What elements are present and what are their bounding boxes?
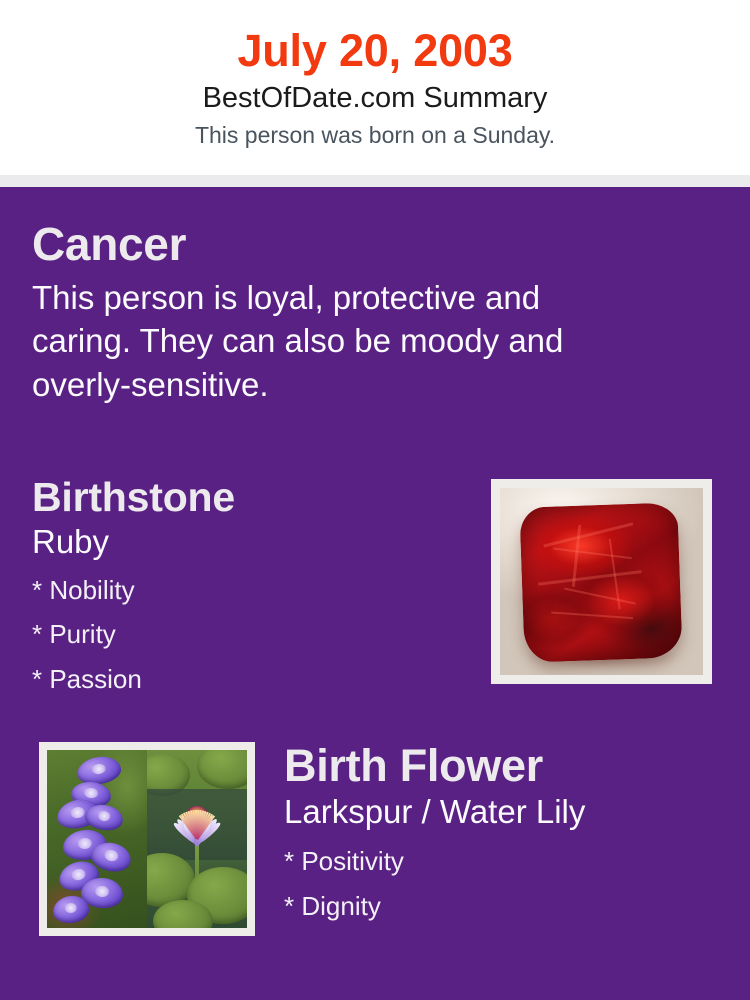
site-summary-label: BestOfDate.com Summary (0, 80, 750, 117)
birthstone-trait-list: * Nobility * Purity * Passion (32, 568, 462, 703)
ruby-facet-line (565, 587, 637, 604)
birthstone-heading: Birthstone (32, 475, 462, 521)
birthstone-section: Birthstone Ruby * Nobility * Purity * Pa… (32, 475, 462, 702)
lily-pad (197, 750, 247, 789)
ruby-facet-line (538, 570, 642, 586)
blossom-center (77, 837, 93, 850)
list-item: * Nobility (32, 568, 462, 613)
blossom-center (70, 806, 86, 819)
ruby-facet-line (544, 522, 634, 547)
summary-page: July 20, 2003 BestOfDate.com Summary Thi… (0, 0, 750, 1000)
ruby-facet-line (552, 611, 634, 619)
birth-flower-trait-list: * Positivity * Dignity (284, 839, 724, 929)
list-item: * Dignity (284, 884, 724, 929)
blossom-center (103, 849, 119, 863)
water-lily-photo-half (147, 750, 247, 928)
page-header: July 20, 2003 BestOfDate.com Summary Thi… (0, 0, 750, 175)
larkspur-and-water-lily-photo (47, 750, 247, 928)
birth-flower-image-frame (39, 742, 255, 936)
zodiac-section: Cancer This person is loyal, protective … (32, 219, 652, 407)
water-lily-bloom (165, 789, 229, 853)
list-item: * Passion (32, 657, 462, 702)
larkspur-photo-half (47, 750, 147, 928)
birth-flower-section: Birth Flower Larkspur / Water Lily * Pos… (284, 741, 724, 929)
page-title: July 20, 2003 (0, 26, 750, 76)
details-panel: Cancer This person is loyal, protective … (0, 187, 750, 1000)
birthstone-image-frame (491, 479, 712, 684)
blossom-center (71, 868, 87, 882)
ruby-crystal-shape (520, 502, 684, 663)
born-day-text: This person was born on a Sunday. (0, 121, 750, 151)
blossom-center (95, 885, 110, 898)
zodiac-sign-name: Cancer (32, 219, 652, 270)
zodiac-description: This person is loyal, protective and car… (32, 276, 642, 408)
birth-flower-name: Larkspur / Water Lily (284, 792, 724, 832)
header-divider (0, 175, 750, 187)
blossom-center (91, 763, 107, 775)
blossom-center (84, 788, 99, 799)
blossom-center (64, 902, 77, 913)
blossom-center (97, 811, 111, 823)
list-item: * Positivity (284, 839, 724, 884)
ruby-gemstone-photo (500, 488, 703, 675)
list-item: * Purity (32, 612, 462, 657)
birth-flower-heading: Birth Flower (284, 741, 724, 791)
birthstone-name: Ruby (32, 522, 462, 562)
ruby-facet-line (553, 547, 632, 559)
